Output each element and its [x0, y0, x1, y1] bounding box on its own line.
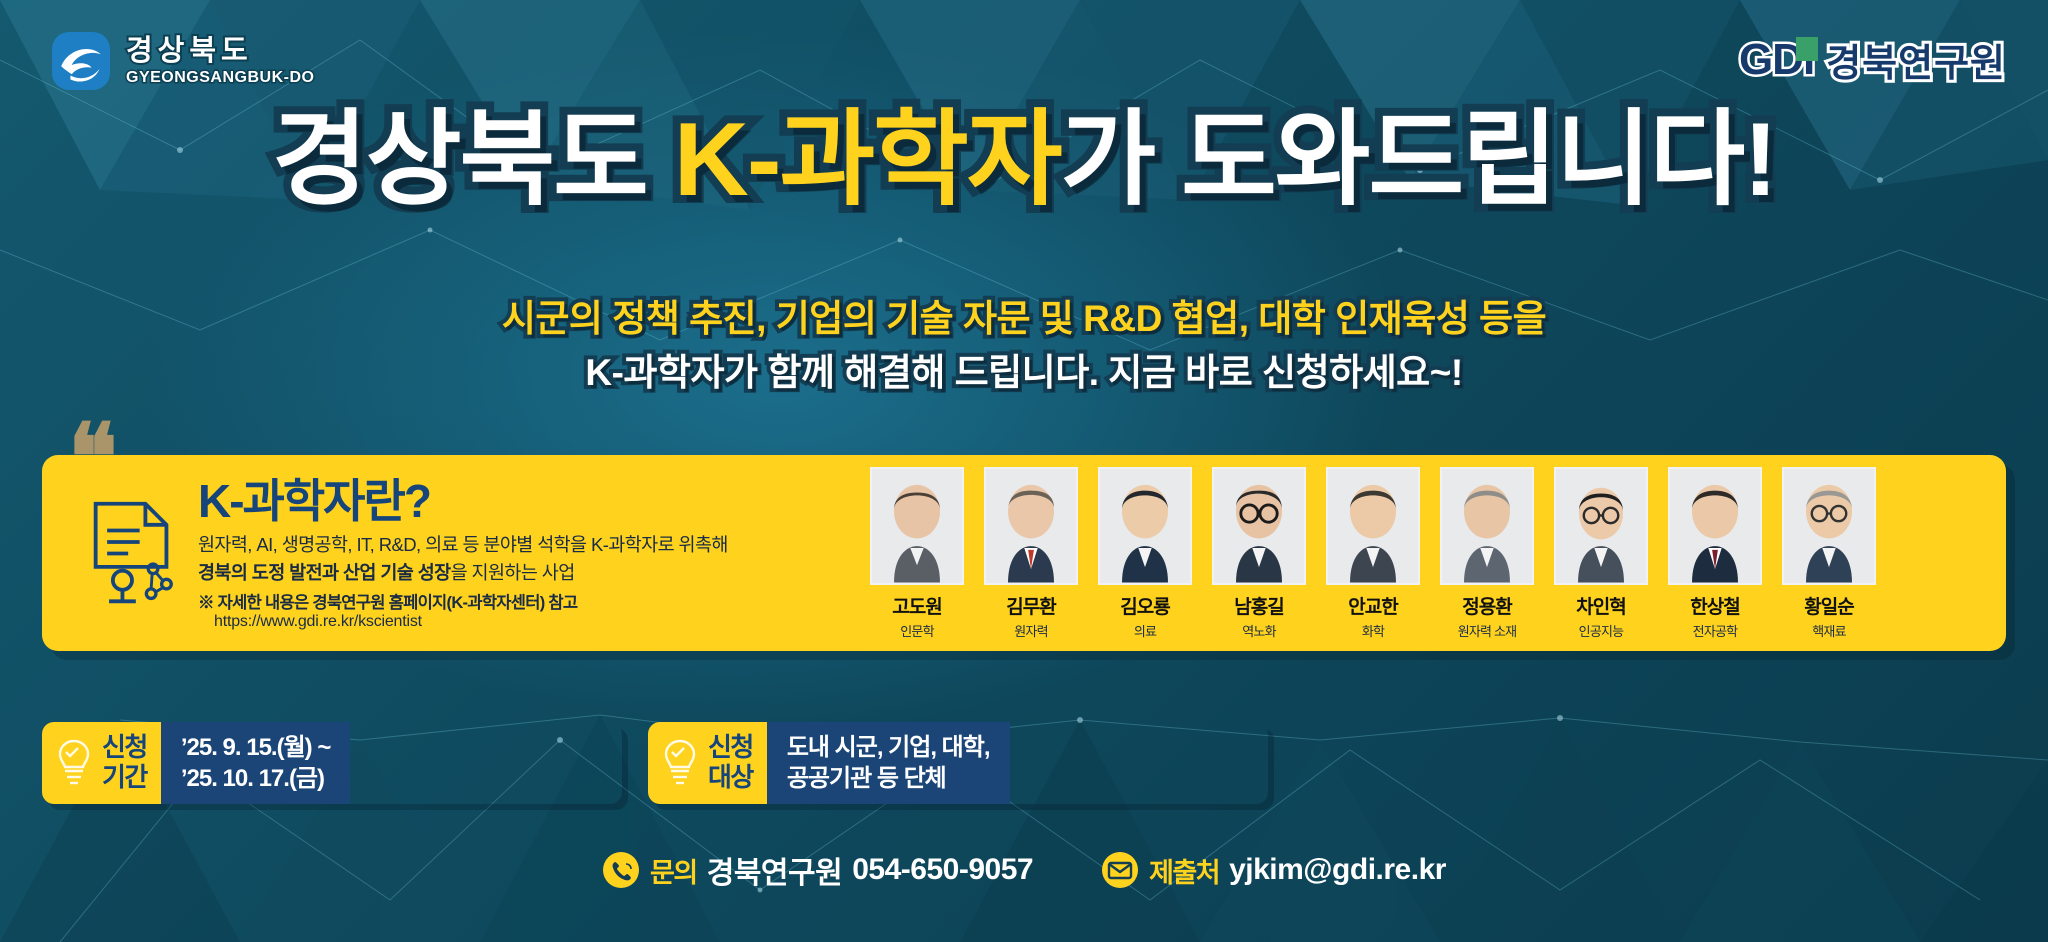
info-box-body: 도내 시군, 기업, 대학, 공공기관 등 단체 [767, 722, 1010, 804]
info-box-label: 신청 대상 [648, 722, 767, 804]
headline-part3: 가 도와드립니다! [1061, 102, 1776, 218]
scientist-name: 한상철 [1668, 592, 1762, 619]
info-box-body: ’25. 9. 15.(월) ~ ’25. 10. 17.(금) [161, 722, 351, 804]
gyeongbuk-symbol-icon [48, 28, 114, 94]
avatar [1668, 467, 1762, 585]
scientist-field: 원자력 [984, 621, 1078, 640]
portrait-photo [1100, 469, 1190, 583]
info-box-target: 신청 대상 도내 시군, 기업, 대학, 공공기관 등 단체 [648, 722, 1268, 804]
scientist-item: 안교한 화학 [1326, 467, 1420, 640]
subheading-line1: 시군의 정책 추진, 기업의 기술 자문 및 R&D 협업, 대학 인재육성 등… [0, 292, 2048, 346]
portrait-photo [1442, 469, 1532, 583]
portrait-photo [1556, 469, 1646, 583]
info-body-line2: 공공기관 등 단체 [787, 763, 990, 794]
info-label-line2: 기간 [102, 763, 147, 793]
scientist-name: 남홍길 [1212, 592, 1306, 619]
portrait-photo [1214, 469, 1304, 583]
k-scientist-info-card: K-과학자란? 원자력, AI, 생명공학, IT, R&D, 의료 등 분야별… [42, 455, 2006, 651]
info-body-line1: ’25. 9. 15.(월) ~ [181, 732, 331, 763]
scientist-item: 김무환 원자력 [984, 467, 1078, 640]
card-desc-bold: 경북의 도정 발전과 산업 기술 성장 [198, 562, 451, 583]
info-body-line2: ’25. 10. 17.(금) [181, 763, 331, 794]
gdi-flag-icon [1796, 37, 1818, 61]
scientist-field: 원자력 소재 [1440, 621, 1534, 640]
avatar [1212, 467, 1306, 585]
phone-contact: 문의 경북연구원 054-650-9057 [602, 848, 1033, 892]
info-box-label: 신청 기간 [42, 722, 161, 804]
scientist-item: 차인혁 인공지능 [1554, 467, 1648, 640]
page-title: 경상북도 K-과학자가 도와드립니다! [0, 108, 2048, 212]
phone-icon [602, 851, 640, 889]
scientist-item: 남홍길 역노화 [1212, 467, 1306, 640]
contact-bar: 문의 경북연구원 054-650-9057 제출처 yjkim@gdi.re.k… [0, 848, 2048, 892]
portrait-photo [986, 469, 1076, 583]
gyeongbuk-logo-ko: 경상북도 [126, 37, 253, 66]
card-title: K-과학자란? [198, 477, 728, 525]
scientist-field: 핵재료 [1782, 621, 1876, 640]
scientist-field: 역노화 [1212, 621, 1306, 640]
card-desc-rest: 을 지원하는 사업 [451, 562, 575, 583]
scientist-field: 화학 [1326, 621, 1420, 640]
card-desc-line1: 원자력, AI, 생명공학, IT, R&D, 의료 등 분야별 석학을 K-과… [198, 531, 728, 559]
card-url[interactable]: https://www.gdi.re.kr/kscientist [214, 613, 728, 631]
subheading: 시군의 정책 추진, 기업의 기술 자문 및 R&D 협업, 대학 인재육성 등… [0, 292, 2048, 399]
lightbulb-icon [660, 738, 700, 788]
scientist-name: 정용환 [1440, 592, 1534, 619]
scientist-field: 전자공학 [1668, 621, 1762, 640]
email-label: 제출처 [1149, 851, 1219, 890]
scientist-field: 의료 [1098, 621, 1192, 640]
email-contact: 제출처 yjkim@gdi.re.kr [1101, 851, 1446, 890]
scientist-name: 안교한 [1326, 592, 1420, 619]
info-label-line2: 대상 [708, 763, 753, 793]
info-box-label-text: 신청 대상 [708, 733, 753, 793]
avatar [1326, 467, 1420, 585]
gyeongbuk-logo-en: GYEONGSANGBUK-DO [126, 70, 314, 86]
phone-org: 경북연구원 [707, 848, 843, 892]
headline-part2: K-과학자 [674, 102, 1061, 218]
scientist-item: 김오룡 의료 [1098, 467, 1192, 640]
card-note: ※ 자세한 내용은 경북연구원 홈페이지(K-과학자센터) 참고 [198, 589, 728, 613]
scientist-field: 인문학 [870, 621, 964, 640]
gdi-logo-ko: 경북연구원 [1826, 32, 2006, 87]
avatar [1098, 467, 1192, 585]
scientist-list: 고도원 인문학 김무환 원자력 [870, 467, 1876, 640]
application-info-boxes: 신청 기간 ’25. 9. 15.(월) ~ ’25. 10. 17.(금) 신… [42, 722, 2006, 804]
portrait-photo [1328, 469, 1418, 583]
avatar [984, 467, 1078, 585]
document-molecule-icon [84, 498, 180, 608]
portrait-photo [1670, 469, 1760, 583]
scientist-name: 김오룡 [1098, 592, 1192, 619]
lightbulb-icon [54, 738, 94, 788]
info-box-label-text: 신청 기간 [102, 733, 147, 793]
info-label-line1: 신청 [102, 733, 147, 763]
portrait-photo [872, 469, 962, 583]
info-box-period: 신청 기간 ’25. 9. 15.(월) ~ ’25. 10. 17.(금) [42, 722, 622, 804]
avatar [1782, 467, 1876, 585]
scientist-name: 고도원 [870, 592, 964, 619]
scientist-item: 고도원 인문학 [870, 467, 964, 640]
avatar [870, 467, 964, 585]
gyeongsangbuk-do-logo: 경상북도 GYEONGSANGBUK-DO [48, 28, 314, 94]
scientist-name: 차인혁 [1554, 592, 1648, 619]
info-body-line1: 도내 시군, 기업, 대학, [787, 732, 990, 763]
phone-number: 054-650-9057 [852, 853, 1033, 887]
scientist-name: 김무환 [984, 592, 1078, 619]
info-label-line1: 신청 [708, 733, 753, 763]
avatar [1554, 467, 1648, 585]
scientist-item: 정용환 원자력 소재 [1440, 467, 1534, 640]
phone-label: 문의 [650, 851, 697, 890]
scientist-item: 황일순 핵재료 [1782, 467, 1876, 640]
scientist-name: 황일순 [1782, 592, 1876, 619]
gdi-logo: GDI 경북연구원 [1739, 32, 2006, 87]
email-value[interactable]: yjkim@gdi.re.kr [1229, 853, 1446, 887]
headline-part1: 경상북도 [272, 102, 674, 218]
card-desc-line2: 경북의 도정 발전과 산업 기술 성장을 지원하는 사업 [198, 559, 728, 587]
subheading-line2: K-과학자가 함께 해결해 드립니다. 지금 바로 신청하세요~! [0, 346, 2048, 400]
avatar [1440, 467, 1534, 585]
scientist-field: 인공지능 [1554, 621, 1648, 640]
scientist-item: 한상철 전자공학 [1668, 467, 1762, 640]
envelope-icon [1101, 851, 1139, 889]
portrait-photo [1784, 469, 1874, 583]
